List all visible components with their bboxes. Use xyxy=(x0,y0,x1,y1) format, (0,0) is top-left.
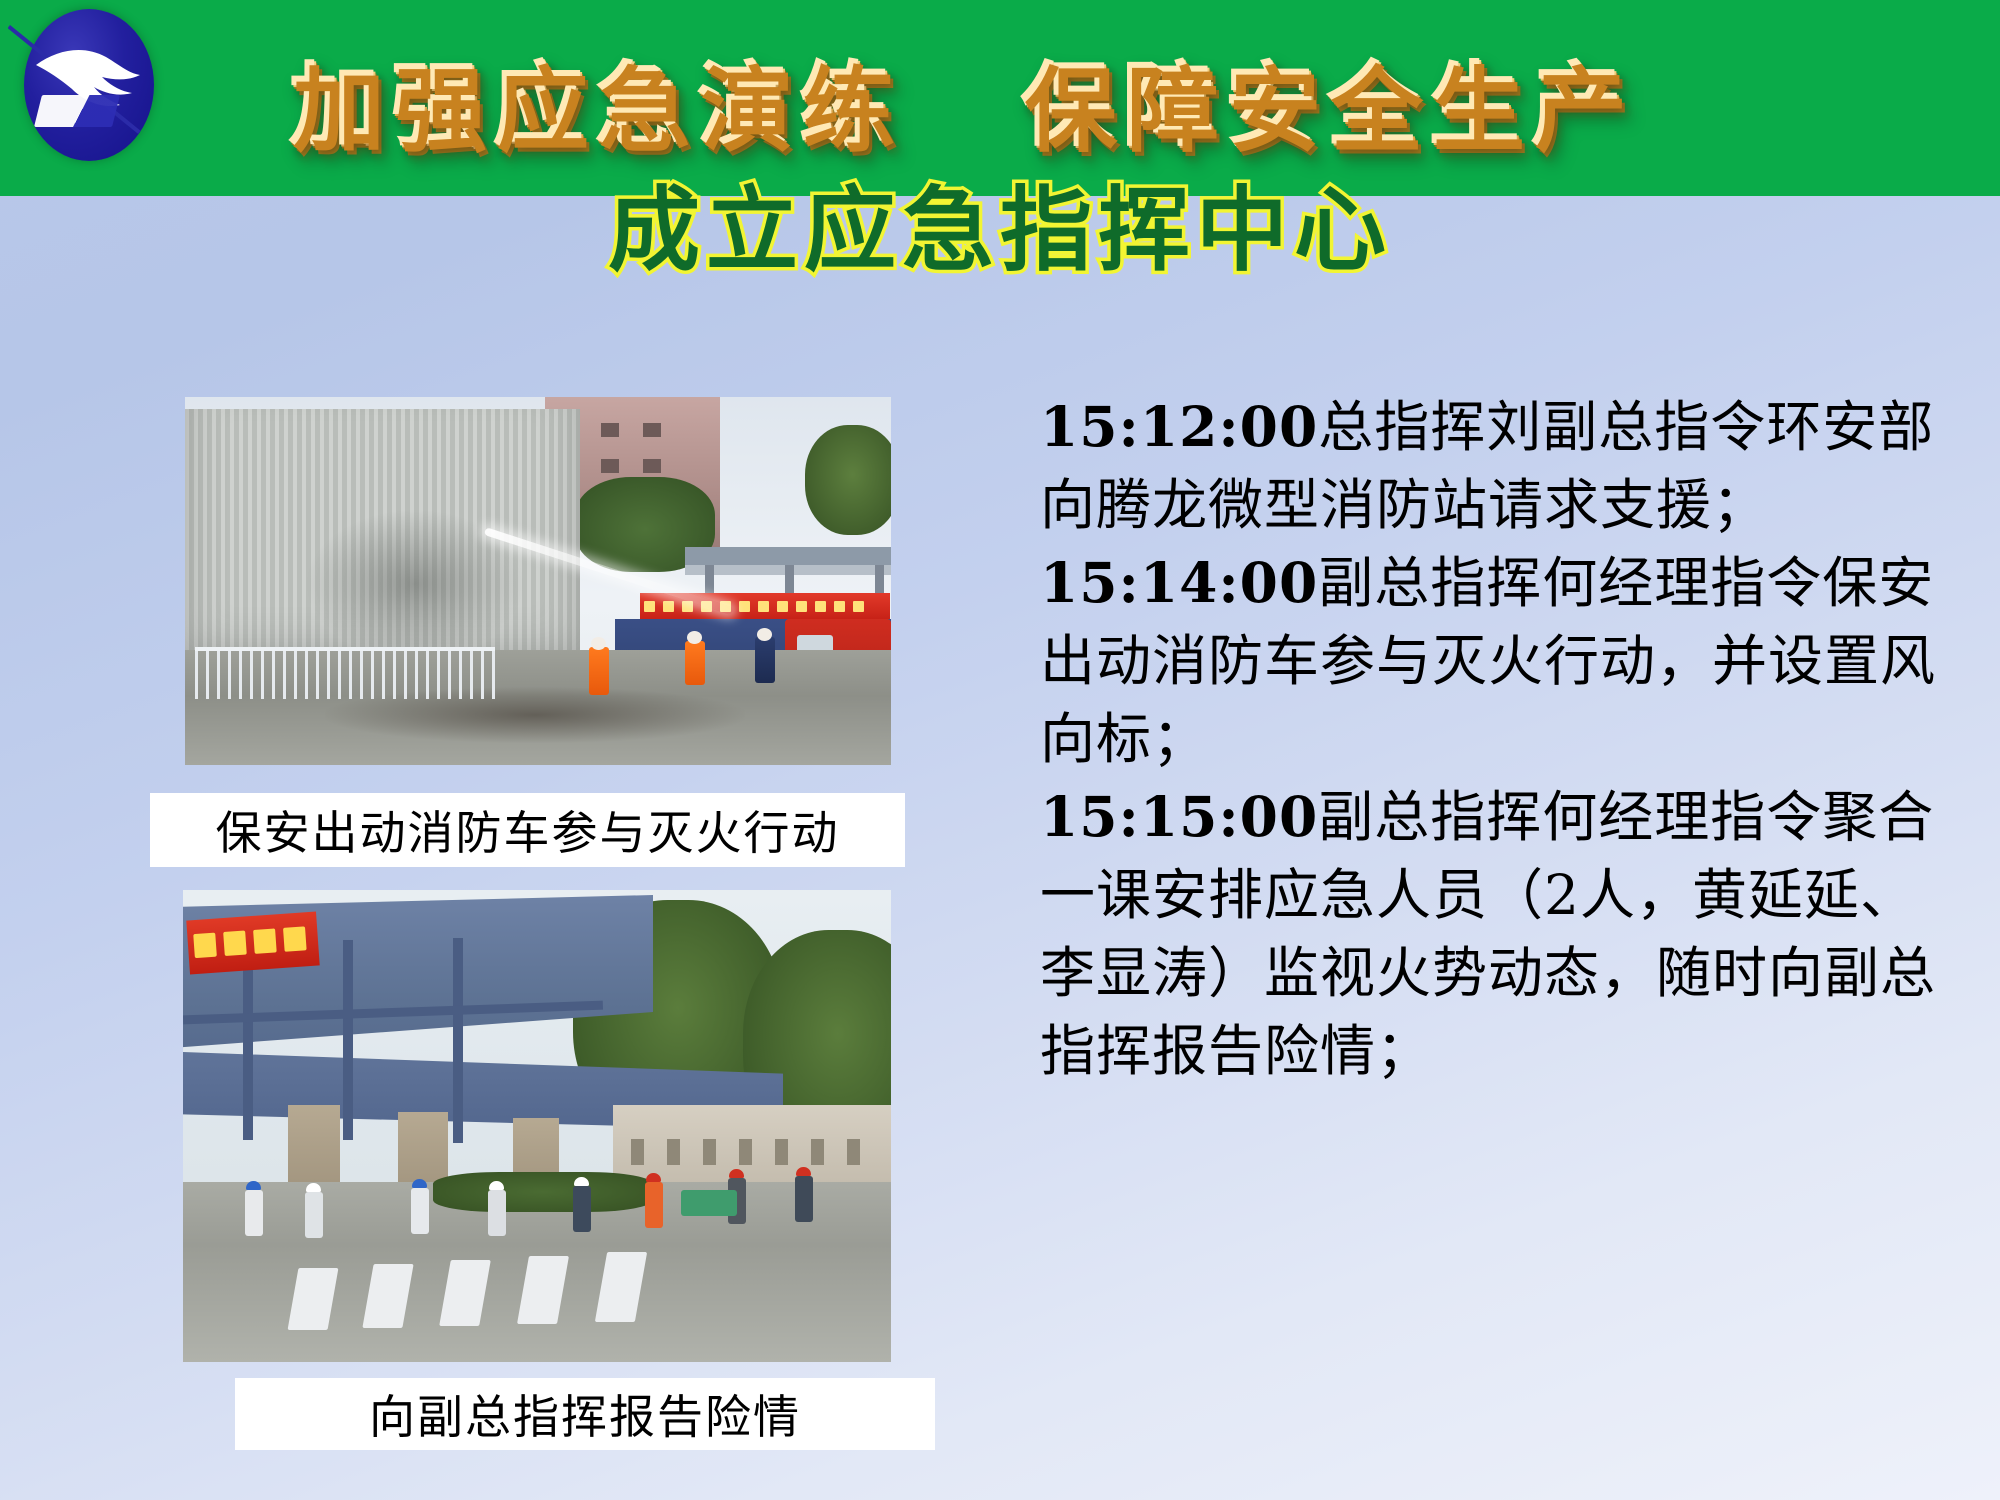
photo1-firefighter-1-head xyxy=(591,637,606,650)
timeline-entry: 15:14:00副总指挥何经理指令保安出动消防车参与灭火行动，并设置风向标； xyxy=(1040,544,1970,778)
photo2-person xyxy=(795,1176,813,1222)
photo2-helmet-icon xyxy=(412,1179,427,1188)
header-banner: 加强应急演练 保障安全生产 xyxy=(0,0,2000,196)
photo2-person xyxy=(645,1182,663,1228)
photo2-helmet-icon xyxy=(729,1169,744,1178)
photo2-helmet-icon xyxy=(306,1183,321,1192)
photo2-green-table xyxy=(681,1190,737,1216)
fire-truck-spraying-water-photo xyxy=(185,397,891,765)
photo1-tree xyxy=(805,425,891,535)
banner-slogan-right: 保障安全生产 xyxy=(1022,33,1634,166)
photo1-firefighter-3 xyxy=(755,637,775,683)
timeline-entry: 15:12:00总指挥刘副总指令环安部向腾龙微型消防站请求支援； xyxy=(1040,388,1970,544)
logo-wordmark-icon xyxy=(34,95,120,127)
timeline-entry: 15:15:00副总指挥何经理指令聚合一课安排应急人员（2人，黄延延、李显涛）监… xyxy=(1040,778,1970,1090)
photo2-helmet-icon xyxy=(489,1181,504,1190)
photo1-caption: 保安出动消防车参与灭火行动 xyxy=(150,793,905,867)
photo1-overhead-canopy xyxy=(685,547,891,565)
slide-title: 成立应急指挥中心 xyxy=(0,176,2000,286)
company-logo xyxy=(10,3,170,163)
photo2-helmet-icon xyxy=(246,1181,261,1190)
photo2-person xyxy=(488,1190,506,1236)
timeline-text-block: 15:12:00总指挥刘副总指令环安部向腾龙微型消防站请求支援； 15:14:0… xyxy=(1040,388,1970,1090)
timeline-time: 15:12:00 xyxy=(1040,394,1318,459)
personnel-reporting-at-plant-photo xyxy=(183,890,891,1362)
timeline-time: 15:14:00 xyxy=(1040,550,1318,615)
slide-canvas: 加强应急演练 保障安全生产 成立应急指挥中心 xyxy=(0,0,2000,1500)
banner-slogan-left: 加强应急演练 xyxy=(290,33,902,166)
photo1-firefighter-1 xyxy=(589,647,609,695)
photo2-person xyxy=(411,1188,429,1234)
photo2-helmet-icon xyxy=(796,1167,811,1176)
photo2-hedge xyxy=(433,1172,653,1212)
photo2-safety-banner xyxy=(186,912,319,975)
timeline-time: 15:15:00 xyxy=(1040,784,1318,849)
photo1-firefighter-2 xyxy=(685,641,705,685)
photo2-caption: 向副总指挥报告险情 xyxy=(235,1378,935,1450)
photo2-person xyxy=(573,1186,591,1232)
photo2-person xyxy=(245,1190,263,1236)
photo2-helmet-icon xyxy=(574,1177,589,1186)
photo2-person xyxy=(305,1192,323,1238)
photo1-firefighter-3-head xyxy=(757,628,772,641)
photo1-guard-fence xyxy=(195,647,495,699)
photo2-helmet-icon xyxy=(646,1173,661,1182)
photo1-firefighter-2-head xyxy=(687,631,702,644)
banner-slogan: 加强应急演练 保障安全生产 xyxy=(290,24,1990,174)
